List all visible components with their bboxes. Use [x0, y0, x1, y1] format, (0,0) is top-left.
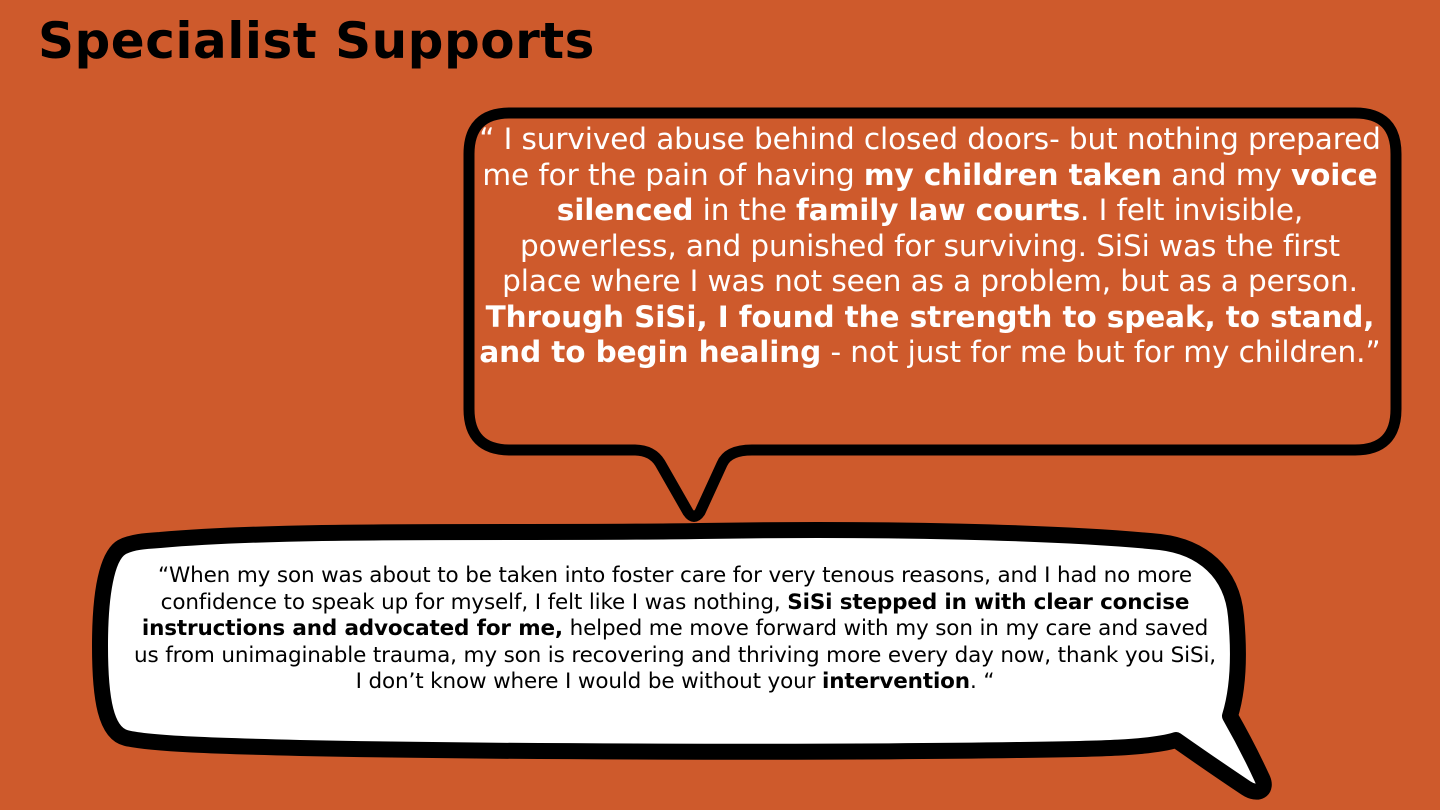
page-title: Specialist Supports — [38, 14, 595, 69]
slide-canvas: Specialist Supports “ I survived abuse b… — [0, 0, 1440, 810]
testimonial-two-text: “When my son was about to be taken into … — [130, 563, 1220, 696]
testimonial-one-text: “ I survived abuse behind closed doors- … — [478, 122, 1382, 371]
